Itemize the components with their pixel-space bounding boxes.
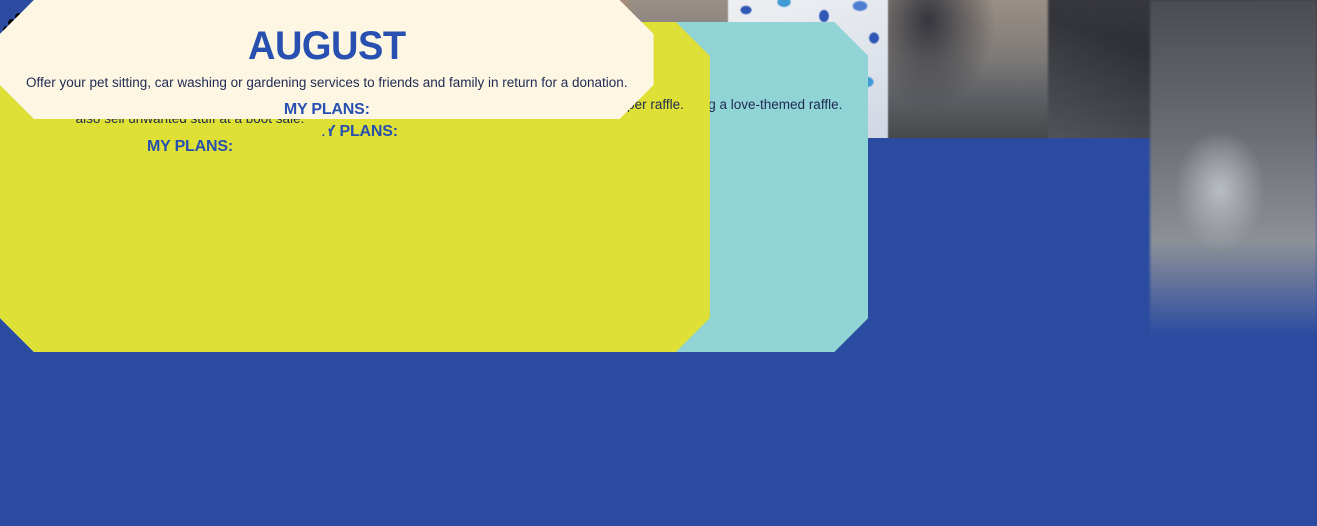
right-photo-strip [1150,0,1317,336]
month-card-august[interactable]: AUGUST Offer your pet sitting, car washi… [0,0,654,119]
my-plans-label: MY PLANS: [22,101,632,119]
month-description: Offer your pet sitting, car washing or g… [22,74,632,92]
fundraising-calendar-page: JANUARY Invite friends, family and local… [0,0,1317,526]
my-plans-label: MY PLANS: [66,138,314,156]
month-title: AUGUST [37,26,616,68]
